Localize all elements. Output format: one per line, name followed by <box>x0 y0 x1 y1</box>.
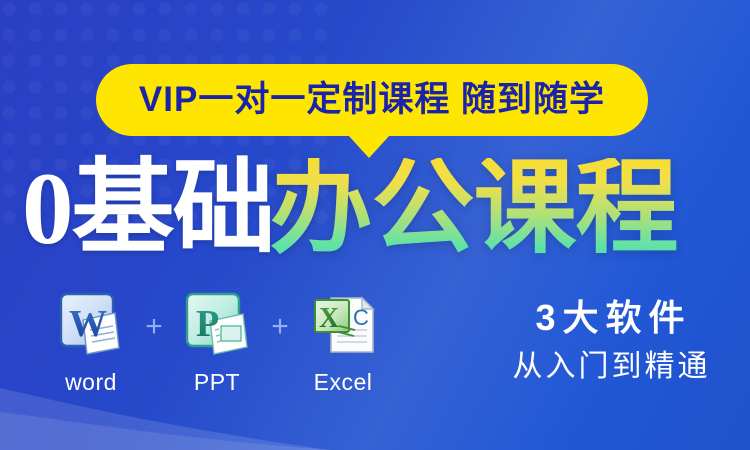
page-title: 0基础 办公课程 <box>22 158 678 261</box>
headline-zero-basics: 0基础 <box>22 158 274 261</box>
software-item-excel: C X Excel <box>300 288 386 394</box>
software-item-word: W word <box>48 288 134 394</box>
vip-ribbon-text: VIP一对一定制课程 随到随学 <box>139 82 605 117</box>
svg-text:C: C <box>353 305 369 330</box>
vip-ribbon: VIP一对一定制课程 随到随学 <box>96 64 648 136</box>
svg-text:P: P <box>196 303 219 345</box>
software-item-ppt: P PPT <box>174 288 260 394</box>
plus-separator-2: + <box>260 288 300 366</box>
plus-separator-1: + <box>134 288 174 366</box>
slogan-block: 3大软件 从入门到精通 <box>494 300 726 382</box>
slogan-sub-text: 从入门到精通 <box>494 352 726 382</box>
software-label-word: word <box>65 371 117 394</box>
software-label-excel: Excel <box>314 371 373 394</box>
slogan-main-text: 3大软件 <box>494 300 726 336</box>
microsoft-word-icon: W <box>57 288 125 360</box>
microsoft-excel-icon: C X <box>309 288 377 360</box>
headline-office-course: 办公课程 <box>270 158 678 261</box>
software-label-ppt: PPT <box>194 371 240 394</box>
promo-banner: VIP一对一定制课程 随到随学 0基础 办公课程 <box>0 0 750 450</box>
microsoft-powerpoint-icon: P <box>183 288 251 360</box>
vip-ribbon-body: VIP一对一定制课程 随到随学 <box>96 64 648 136</box>
svg-text:W: W <box>69 303 107 345</box>
svg-text:X: X <box>319 303 339 334</box>
software-suite-list: W word + <box>48 288 386 394</box>
